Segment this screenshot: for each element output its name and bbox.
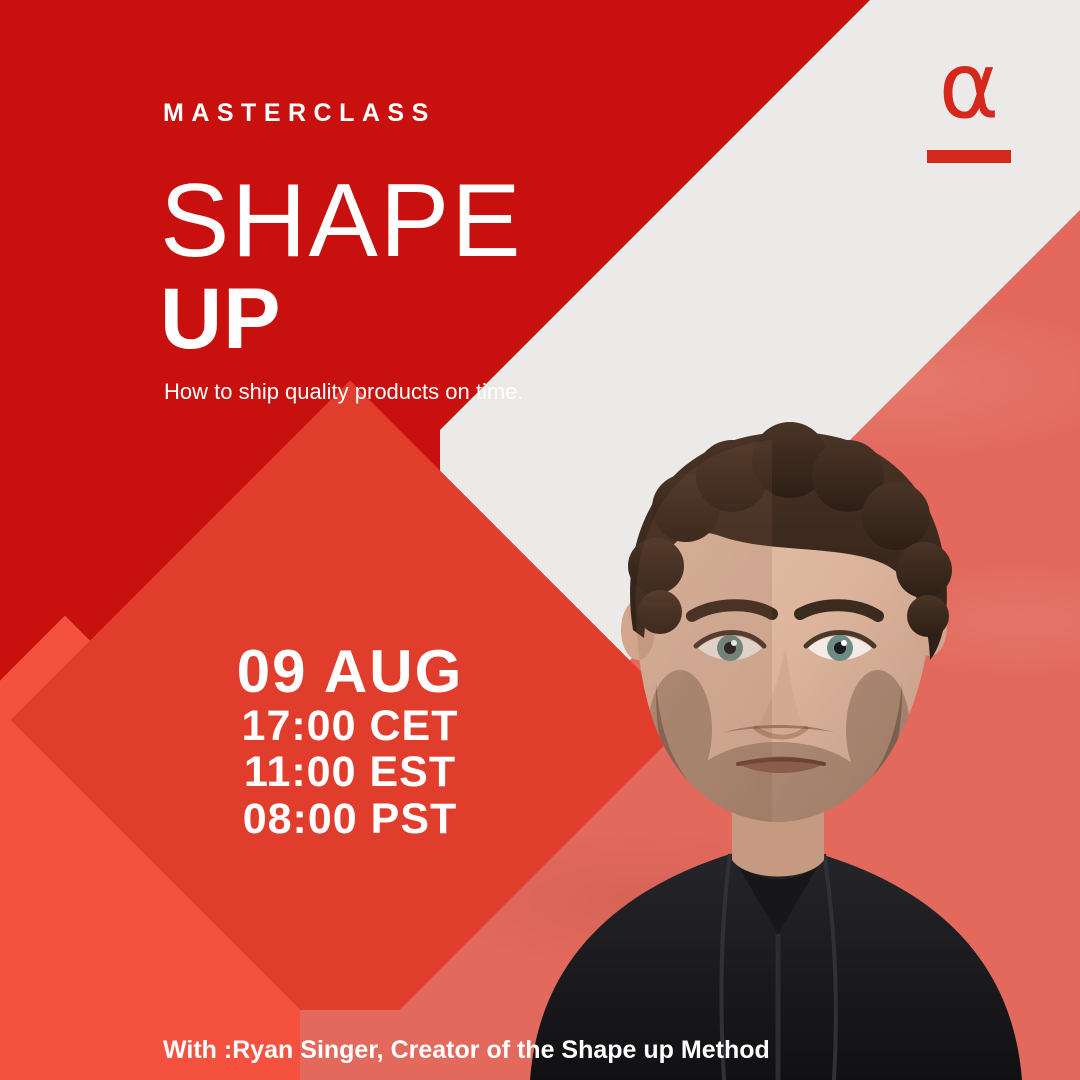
eyebrow-label: MASTERCLASS — [163, 99, 436, 128]
date-panel: 09 AUG 17:00 CET 11:00 EST 08:00 PST — [140, 640, 560, 842]
page-title: SHAPE UP — [160, 172, 523, 360]
poster-canvas: α MASTERCLASS SHAPE UP How to ship quali… — [0, 0, 1080, 1080]
subtitle-text: How to ship quality products on time. — [164, 379, 524, 405]
alpha-icon: α — [914, 40, 1024, 132]
title-line-1: SHAPE — [160, 172, 523, 272]
speaker-credit: With :Ryan Singer, Creator of the Shape … — [163, 1036, 770, 1065]
event-time-cet: 17:00 CET — [140, 703, 560, 749]
event-time-est: 11:00 EST — [140, 749, 560, 795]
logo-underline — [927, 150, 1011, 163]
event-date: 09 AUG — [140, 640, 560, 703]
brand-logo: α — [914, 40, 1024, 163]
title-line-2: UP — [160, 278, 523, 361]
event-time-pst: 08:00 PST — [140, 796, 560, 842]
